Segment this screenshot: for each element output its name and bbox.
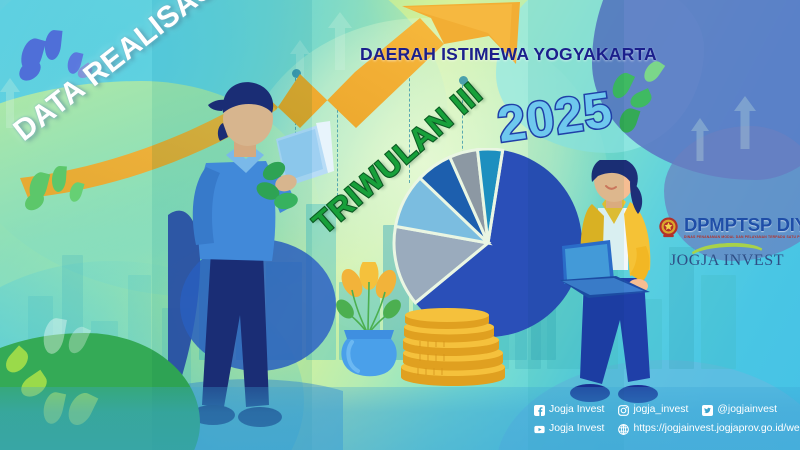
social-row: Jogja Invest jogja_invest @jogjainvest xyxy=(534,402,800,418)
social-youtube[interactable]: Jogja Invest xyxy=(534,421,604,437)
region-subtitle: DAERAH ISTIMEWA YOGYAKARTA xyxy=(360,44,657,65)
social-bar: Jogja Invest jogja_invest @jogjainvest xyxy=(534,402,800,437)
social-website[interactable]: https://jogjainvest.jogjaprov.go.id/web/ xyxy=(618,421,800,437)
agency-subtitle: DINAS PENANAMAN MODAL DAN PELAYANAN TERP… xyxy=(684,236,800,239)
logo-block: DPMPTSP DIY DINAS PENANAMAN MODAL DAN PE… xyxy=(658,216,796,270)
tone-panel xyxy=(152,0,312,450)
social-twitter[interactable]: @jogjainvest xyxy=(702,402,777,418)
agency-name: DPMPTSP DIY xyxy=(684,216,800,235)
social-handle: Jogja Invest xyxy=(549,402,604,418)
twitter-icon xyxy=(702,405,713,416)
social-handle: @jogjainvest xyxy=(717,402,777,418)
social-instagram[interactable]: jogja_invest xyxy=(618,402,688,418)
instagram-icon xyxy=(618,405,629,416)
agency-logo-row: DPMPTSP DIY DINAS PENANAMAN MODAL DAN PE… xyxy=(658,216,796,239)
social-facebook[interactable]: Jogja Invest xyxy=(534,402,604,418)
social-handle: jogja_invest xyxy=(633,402,688,418)
tone-panel xyxy=(528,0,624,450)
poster-canvas: DATA REALISASI INVESTASI DAERAH ISTIMEWA… xyxy=(0,0,800,450)
social-handle: Jogja Invest xyxy=(549,421,604,437)
youtube-icon xyxy=(534,424,545,435)
brand-lockup: JOGJA INVEST xyxy=(658,252,796,270)
social-row: Jogja Invest https://jogjainvest.jogjapr… xyxy=(534,421,800,437)
agency-logo-texts: DPMPTSP DIY DINAS PENANAMAN MODAL DAN PE… xyxy=(684,216,800,239)
globe-icon xyxy=(618,424,629,435)
government-seal-icon xyxy=(658,216,679,239)
facebook-icon xyxy=(534,405,545,416)
social-handle: https://jogjainvest.jogjaprov.go.id/web/ xyxy=(633,421,800,437)
